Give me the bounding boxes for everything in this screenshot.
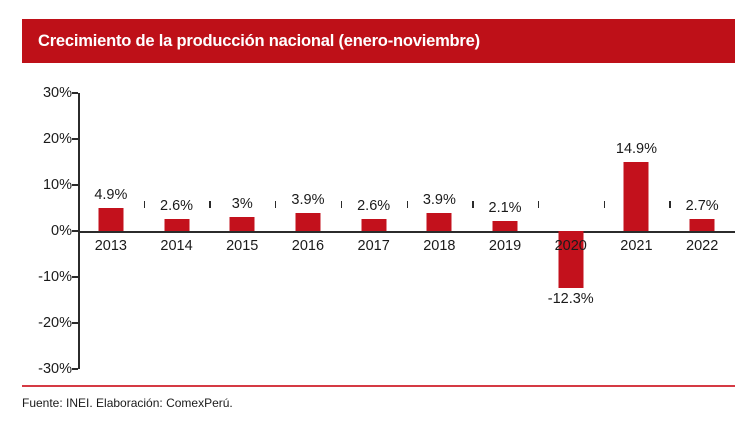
bar-value-label: 2.6%: [357, 198, 390, 214]
bar-value-label: 14.9%: [616, 141, 657, 157]
y-axis-tick-label: -30%: [38, 361, 72, 377]
y-axis-tick-label: -10%: [38, 269, 72, 285]
bar-group: 3.9%2016: [275, 93, 341, 369]
bar: [164, 219, 189, 231]
x-axis-tick-mark: [407, 201, 408, 208]
bar: [295, 213, 320, 231]
y-axis-tick-label: 0%: [51, 223, 72, 239]
x-axis-tick-mark: [604, 201, 605, 208]
bar-group: 2.1%2019: [472, 93, 538, 369]
bar: [493, 221, 518, 231]
footer-divider: [22, 385, 735, 387]
x-axis-tick-mark: [472, 201, 473, 208]
bar-value-label: 4.9%: [94, 187, 127, 203]
x-axis-tick-mark: [144, 201, 145, 208]
bar-value-label: -12.3%: [548, 291, 594, 307]
bar: [427, 213, 452, 231]
bar-group: 4.9%2013: [78, 93, 144, 369]
y-axis-tick-label: -20%: [38, 315, 72, 331]
x-axis-category-label: 2015: [226, 238, 258, 254]
bar-chart: 30%20%10%0%-10%-20%-30% 4.9%20132.6%2014…: [0, 63, 755, 378]
x-axis-category-label: 2013: [95, 238, 127, 254]
y-axis-tick-label: 20%: [43, 131, 72, 147]
bar-group: 2.6%2017: [341, 93, 407, 369]
bar: [690, 219, 715, 231]
bar: [624, 162, 649, 231]
x-axis-category-label: 2021: [620, 238, 652, 254]
bar-group: 14.9%2021: [604, 93, 670, 369]
bar-group: 3.9%2018: [407, 93, 473, 369]
x-axis-tick-mark: [341, 201, 342, 208]
bar-value-label: 2.1%: [489, 200, 522, 216]
x-axis-category-label: 2016: [292, 238, 324, 254]
chart-page: Crecimiento de la producción nacional (e…: [0, 0, 755, 421]
x-axis-tick-mark: [669, 201, 670, 208]
y-axis-tick-label: 30%: [43, 85, 72, 101]
x-axis-category-label: 2017: [358, 238, 390, 254]
bar-value-label: 2.7%: [686, 198, 719, 214]
bar-group: -12.3%2020: [538, 93, 604, 369]
page-title: Crecimiento de la producción nacional (e…: [22, 32, 480, 51]
x-axis-tick-mark: [209, 201, 210, 208]
title-banner: Crecimiento de la producción nacional (e…: [22, 19, 735, 63]
bar-group: 2.6%2014: [144, 93, 210, 369]
bar-group: 3%2015: [209, 93, 275, 369]
x-axis-tick-mark: [538, 201, 539, 208]
bar: [98, 208, 123, 231]
source-note: Fuente: INEI. Elaboración: ComexPerú.: [22, 396, 233, 410]
x-axis-category-label: 2019: [489, 238, 521, 254]
x-axis-category-label: 2022: [686, 238, 718, 254]
x-axis-category-label: 2014: [160, 238, 192, 254]
bar-value-label: 3.9%: [291, 192, 324, 208]
bar-group: 2.7%2022: [669, 93, 735, 369]
y-axis-tick-label: 10%: [43, 177, 72, 193]
bar-value-label: 2.6%: [160, 198, 193, 214]
x-axis-tick-mark: [275, 201, 276, 208]
bar-value-label: 3.9%: [423, 192, 456, 208]
bar: [230, 217, 255, 231]
bar: [361, 219, 386, 231]
x-axis-category-label: 2018: [423, 238, 455, 254]
bar-value-label: 3%: [232, 196, 253, 212]
x-axis-category-label: 2020: [555, 238, 587, 254]
